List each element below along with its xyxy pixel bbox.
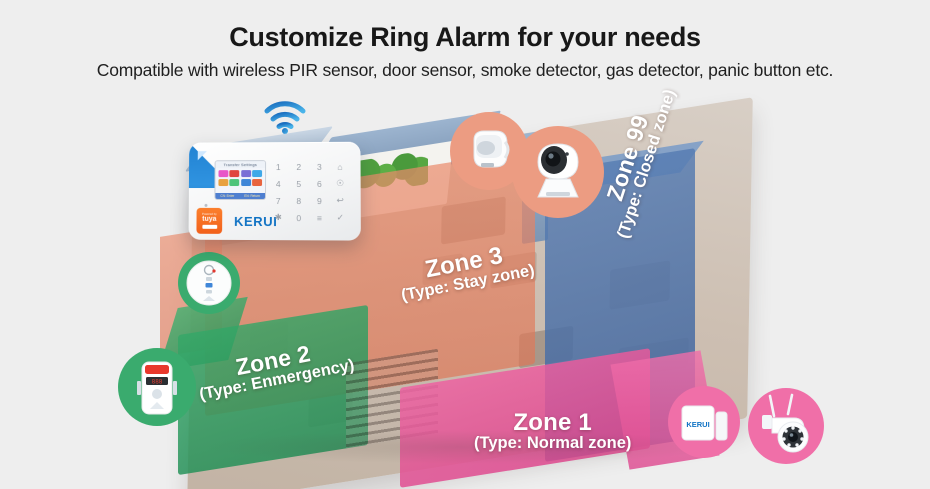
device-badge-outdoor-camera[interactable] (748, 388, 824, 464)
keypad-key-1[interactable]: 1 (276, 162, 281, 172)
device-badge-gas-detector[interactable]: 888 (118, 348, 196, 426)
panel-corner-glyph: ◤ (198, 148, 205, 161)
zone-label-zone1-type: (Type: Normal zone) (474, 435, 631, 452)
lcd-icon-1[interactable] (218, 170, 228, 177)
keypad-key-7[interactable]: 7 (276, 195, 281, 205)
lcd-icon-6[interactable] (230, 179, 240, 186)
zone-label-zone1: Zone 1 (Type: Normal zone) (474, 410, 631, 453)
keypad-key-arm-away[interactable]: ⌂ (337, 161, 342, 171)
keypad-key-4[interactable]: 4 (276, 179, 281, 189)
lcd-icon-2[interactable] (230, 170, 240, 177)
zone-label-zone1-name: Zone 1 (474, 410, 631, 435)
indoor-camera-icon (512, 126, 604, 218)
keypad-key-star[interactable]: ✱ (275, 212, 282, 223)
svg-text:888: 888 (152, 379, 163, 386)
tuya-name-label: tuya (202, 216, 216, 224)
keypad-key-2[interactable]: 2 (296, 161, 301, 171)
lcd-icon-grid[interactable] (215, 168, 265, 187)
alarm-control-panel[interactable]: ◤ Transfer Settings CN: Enter EN: Return (189, 142, 361, 241)
smoke-detector-icon (178, 252, 240, 314)
keypad-key-0[interactable]: 0 (296, 213, 301, 223)
lcd-icon-4[interactable] (252, 170, 262, 177)
keypad-key-3[interactable]: 3 (317, 161, 322, 171)
outdoor-ptz-camera-icon (748, 388, 824, 464)
svg-text:KERUI: KERUI (686, 420, 709, 429)
panel-lcd-screen[interactable]: Transfer Settings CN: Enter EN: Return (214, 160, 266, 200)
panel-keypad[interactable]: 1 2 3 ⌂ 4 5 6 ☉ 7 8 9 ↩ ✱ 0 ≡ ✓ (268, 158, 351, 227)
promo-banner: Customize Ring Alarm for your needs Comp… (0, 0, 930, 489)
tuya-badge-bar (202, 225, 217, 229)
lcd-icon-3[interactable] (241, 170, 251, 177)
page-subtitle: Compatible with wireless PIR sensor, doo… (0, 60, 930, 81)
ground-shadow (200, 430, 720, 464)
panel-status-led (204, 204, 207, 207)
device-badge-door-sensor[interactable]: KERUI (668, 386, 740, 458)
keypad-key-5[interactable]: 5 (296, 178, 301, 188)
lcd-icon-5[interactable] (218, 179, 228, 186)
lcd-icon-7[interactable] (241, 179, 251, 186)
keypad-key-9[interactable]: 9 (317, 196, 322, 206)
device-badge-indoor-camera[interactable] (512, 126, 604, 218)
keypad-key-arm-home[interactable]: ☉ (336, 178, 344, 189)
keypad-key-8[interactable]: 8 (296, 196, 301, 206)
tuya-badge: Powered by tuya (196, 208, 222, 234)
keypad-key-6[interactable]: 6 (317, 178, 322, 188)
page-title: Customize Ring Alarm for your needs (0, 22, 930, 53)
device-badge-smoke-detector[interactable] (178, 252, 240, 314)
lcd-footer-left: CN: Enter (220, 194, 234, 198)
gas-detector-icon: 888 (118, 348, 196, 426)
lcd-footer-bar: CN: Enter EN: Return (215, 193, 265, 199)
keypad-key-confirm[interactable]: ✓ (337, 212, 344, 223)
keypad-key-back[interactable]: ↩ (337, 195, 344, 206)
door-contact-sensor-icon: KERUI (668, 386, 740, 458)
keypad-key-hash[interactable]: ≡ (317, 213, 322, 223)
panel-branding: Powered by tuya KERUI (196, 208, 277, 234)
lcd-footer-right: EN: Return (244, 194, 260, 198)
lcd-icon-8[interactable] (252, 179, 262, 186)
